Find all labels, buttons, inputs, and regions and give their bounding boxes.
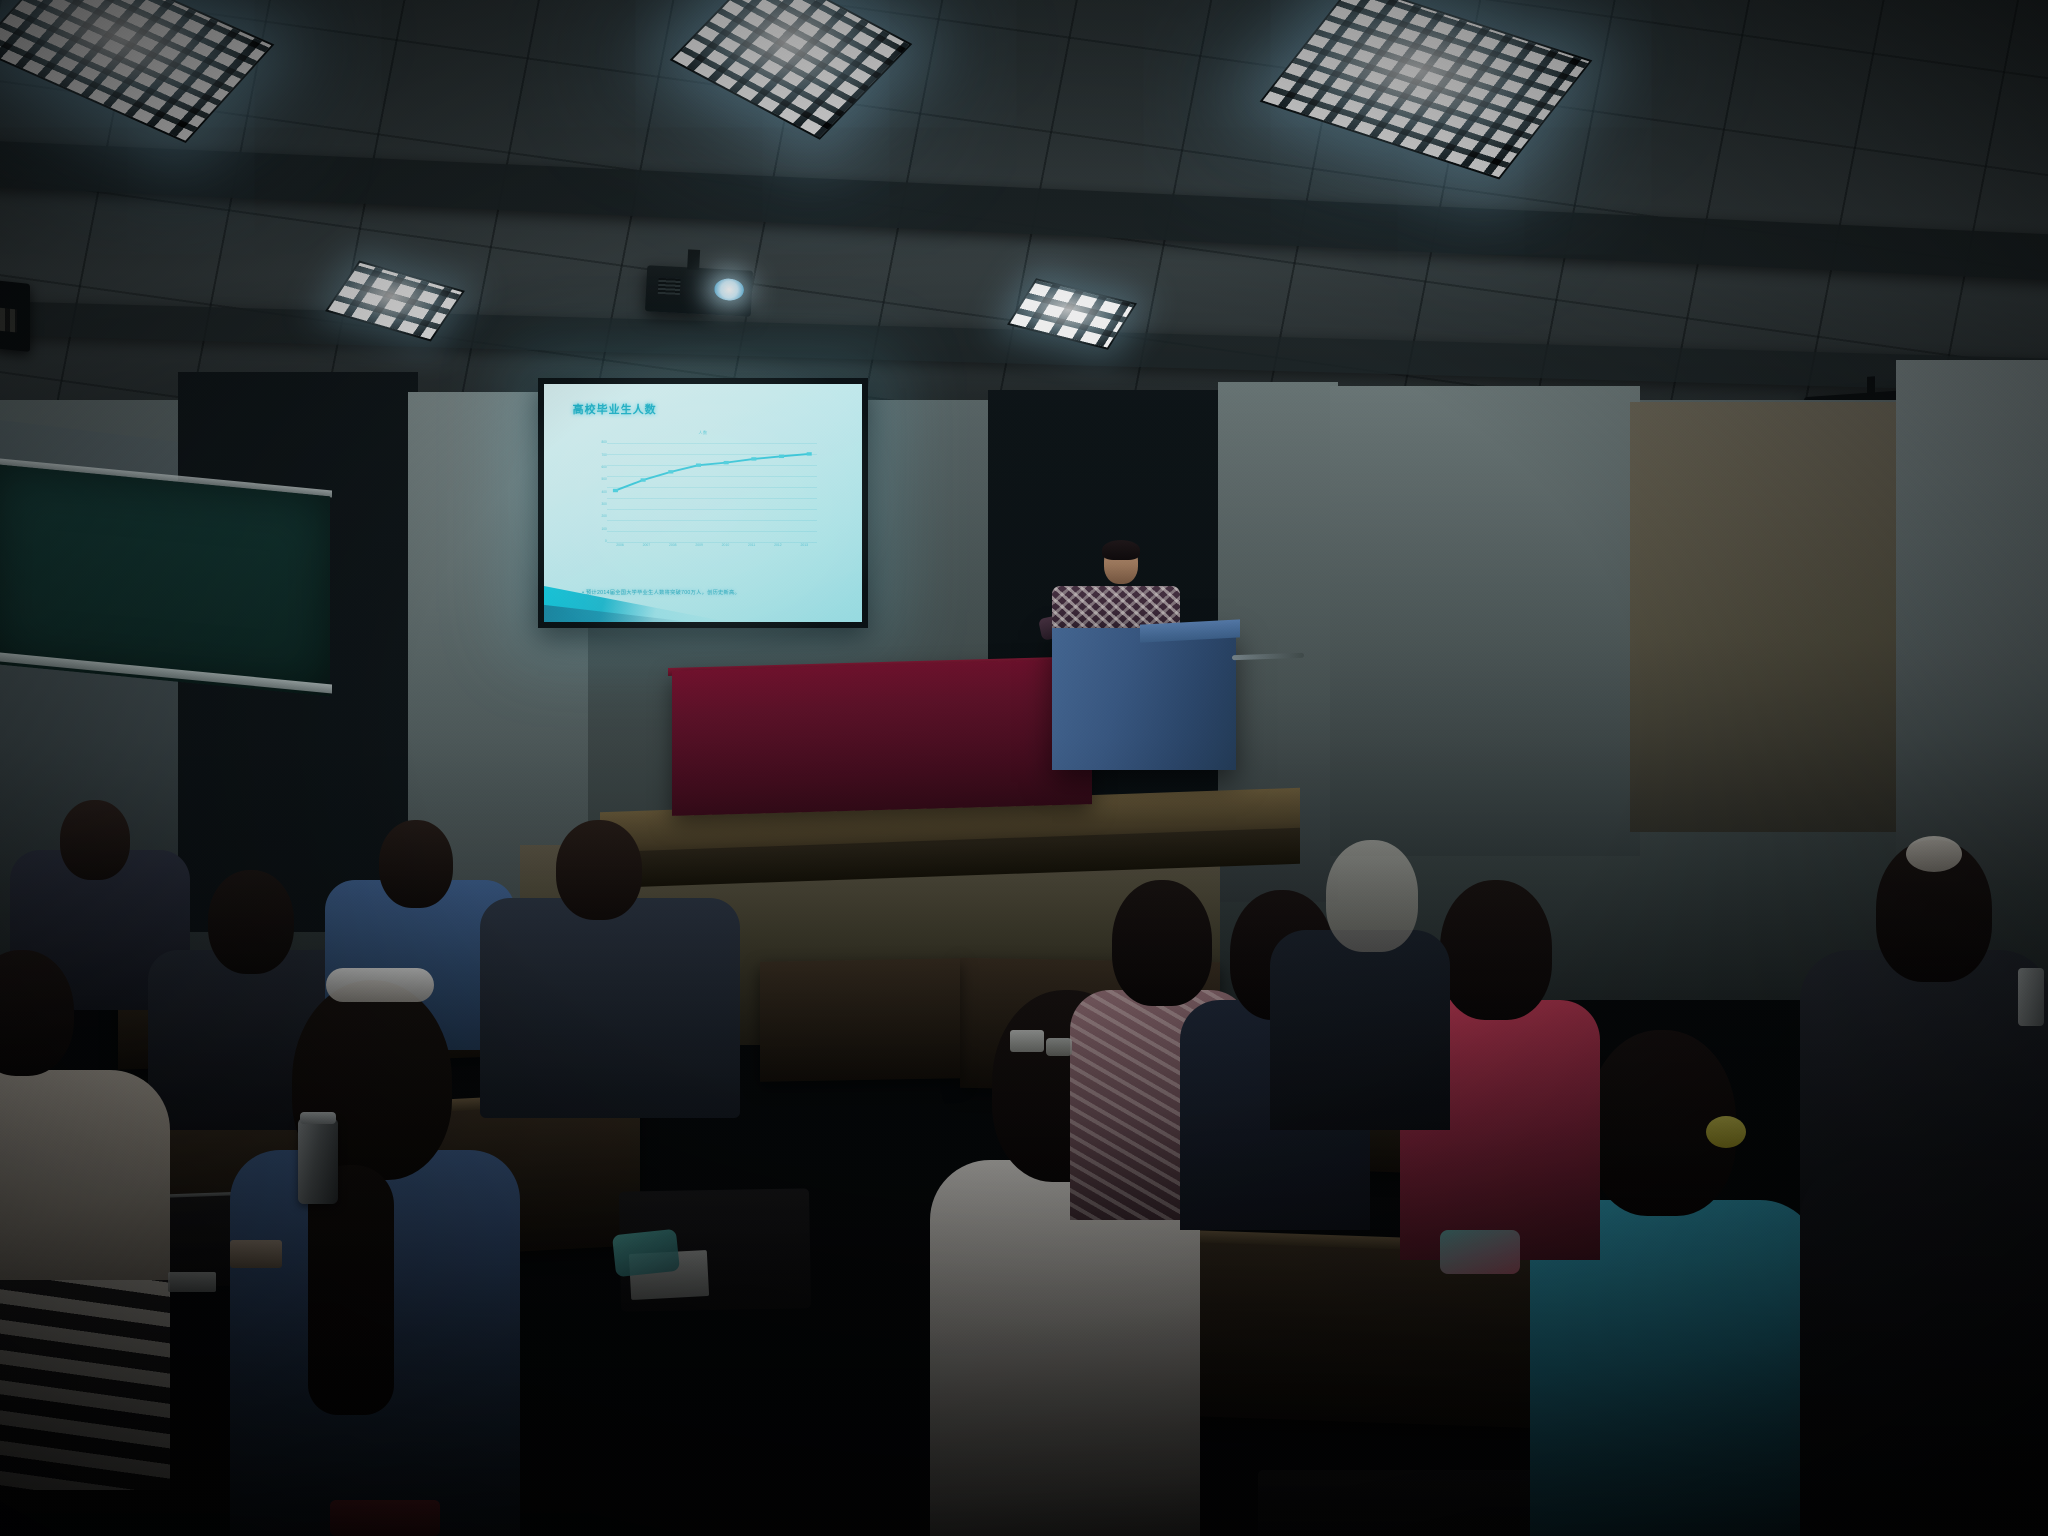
projector-lens-icon: [714, 278, 745, 302]
cup-small: [1046, 1038, 1072, 1056]
bottle: [2018, 968, 2044, 1026]
x-tick: 2010: [722, 543, 730, 547]
chart-y-axis: 800 700 600 500 400 300 200 100 0: [589, 441, 609, 543]
x-tick: 2011: [748, 543, 755, 547]
attendee-head: [556, 820, 642, 920]
lecture-hall-photo: 高校毕业生人数 人数 800 700 600 500 400 300 200 1…: [0, 0, 2048, 1536]
right-wall: [1896, 360, 2048, 880]
red-draped-table: [672, 659, 1092, 816]
chart-plot-area: [607, 441, 818, 543]
cloth-item: [1440, 1230, 1520, 1274]
wall-speaker-icon: [0, 280, 30, 352]
cup: [1010, 1030, 1044, 1052]
x-tick: 2006: [616, 543, 624, 547]
thermos-flask: [298, 1118, 338, 1204]
hair-band: [326, 968, 434, 1002]
wall-segment-right: [1330, 386, 1640, 856]
lectern: [1052, 628, 1236, 770]
hair-tie: [1706, 1116, 1746, 1148]
attendee-torso: [1800, 1160, 2048, 1536]
attendee-torso: [1270, 930, 1450, 1130]
attendee-torso: [480, 898, 740, 1118]
chart-caption: 人数: [589, 430, 818, 436]
x-tick: 2013: [801, 543, 809, 547]
bag: [330, 1500, 440, 1536]
x-tick: 2008: [669, 543, 677, 547]
wall-panel-tan: [1630, 402, 1898, 832]
attendee-head: [208, 870, 294, 974]
attendee-striped-sleeve: [0, 1280, 170, 1490]
attendee-head: [1326, 840, 1418, 952]
chart-x-axis: 2006 2007 2008 2009 2010 2011 2012 2013: [607, 543, 818, 560]
x-tick: 2009: [695, 543, 703, 547]
projection-screen: 高校毕业生人数 人数 800 700 600 500 400 300 200 1…: [538, 378, 868, 628]
slide-bullet-text: • 预计2014届全国大学毕业生人数将突破700万人，创历史新高。: [582, 589, 836, 596]
attendee-head: [1112, 880, 1212, 1006]
hair-clip: [1906, 836, 1962, 872]
attendee-head: [60, 800, 130, 880]
attendee-head: [379, 820, 453, 908]
slide-surface: 高校毕业生人数 人数 800 700 600 500 400 300 200 1…: [544, 384, 862, 622]
paper-sheet: [168, 1272, 216, 1292]
notebook: [230, 1240, 282, 1268]
slide-line-chart: 人数 800 700 600 500 400 300 200 100 0: [589, 441, 818, 560]
projector-vent: [658, 278, 681, 295]
projector-icon: [645, 265, 753, 316]
thermos-lid: [300, 1112, 336, 1124]
x-tick: 2007: [643, 543, 651, 547]
desk-small: [760, 958, 960, 1081]
cloth-item: [612, 1229, 680, 1277]
projector-mount: [687, 249, 700, 270]
attendee-head: [1440, 880, 1552, 1020]
presenter-hair: [1102, 540, 1140, 560]
slide-title: 高校毕业生人数: [573, 401, 657, 417]
x-tick: 2012: [774, 543, 782, 547]
